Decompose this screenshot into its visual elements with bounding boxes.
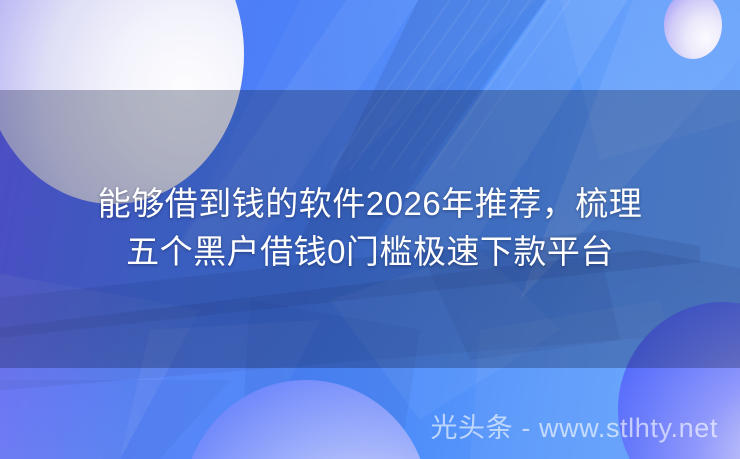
headline-line-2: 五个黑户借钱0门槛极速下款平台 <box>0 228 740 276</box>
site-watermark: 光头条 - www.stlhty.net <box>430 411 718 445</box>
banner-image: 能够借到钱的软件2026年推荐，梳理 五个黑户借钱0门槛极速下款平台 光头条 -… <box>0 0 740 459</box>
headline-line-1: 能够借到钱的软件2026年推荐，梳理 <box>0 180 740 228</box>
banner-headline: 能够借到钱的软件2026年推荐，梳理 五个黑户借钱0门槛极速下款平台 <box>0 180 740 276</box>
